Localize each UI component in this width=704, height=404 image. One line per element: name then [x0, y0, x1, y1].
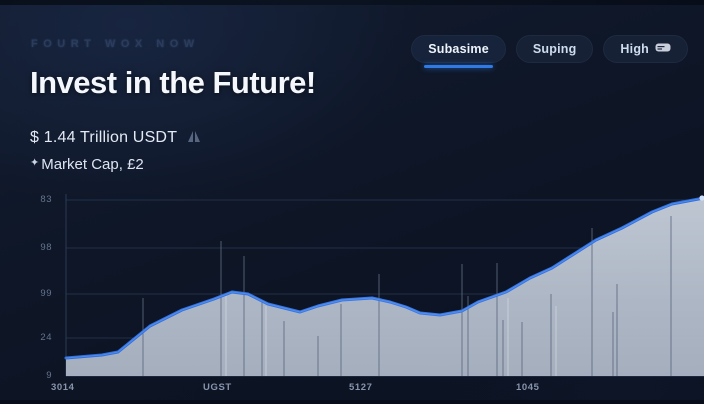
- card-icon: [655, 42, 671, 56]
- chart-area-fill: [66, 198, 704, 376]
- filter-pill-subasime[interactable]: Subasime: [411, 35, 506, 63]
- filter-pill-subasime-label: Subasime: [428, 42, 489, 56]
- market-cap-amount: $ 1.44 Trillion USDT: [30, 129, 177, 147]
- hero-panel: FOURT WOX NOW Invest in the Future! $ 1.…: [0, 0, 704, 404]
- filter-pill-group: Subasime Suping High: [411, 35, 688, 63]
- active-indicator: [424, 65, 493, 68]
- y-tick-4: 9: [12, 370, 52, 381]
- chart-svg: [0, 186, 704, 382]
- bar-chart-icon: [186, 128, 203, 148]
- y-tick-3: 24: [12, 332, 52, 343]
- overline-text: FOURT WOX NOW: [31, 38, 200, 50]
- market-cap-label-text: Market Cap, £2: [41, 156, 144, 173]
- page-title: Invest in the Future!: [30, 65, 316, 101]
- y-tick-0: 83: [12, 194, 52, 205]
- filter-pill-high-label: High: [620, 42, 649, 56]
- x-tick-3: 1045: [516, 382, 540, 393]
- x-tick-0: 3014: [51, 382, 75, 393]
- x-tick-2: 5127: [349, 382, 373, 393]
- filter-pill-suping[interactable]: Suping: [516, 35, 594, 63]
- asterisk-icon: ✦: [30, 156, 39, 169]
- market-cap-chart[interactable]: 83 98 99 24 9 3014 UGST 5127 1045: [0, 186, 704, 404]
- filter-pill-suping-label: Suping: [533, 42, 577, 56]
- market-cap-label: ✦ Market Cap, £2: [30, 156, 144, 173]
- y-tick-2: 99: [12, 288, 52, 299]
- filter-pill-high[interactable]: High: [603, 35, 688, 63]
- x-tick-1: UGST: [203, 382, 232, 393]
- market-cap-value: $ 1.44 Trillion USDT: [30, 128, 203, 148]
- y-tick-1: 98: [12, 242, 52, 253]
